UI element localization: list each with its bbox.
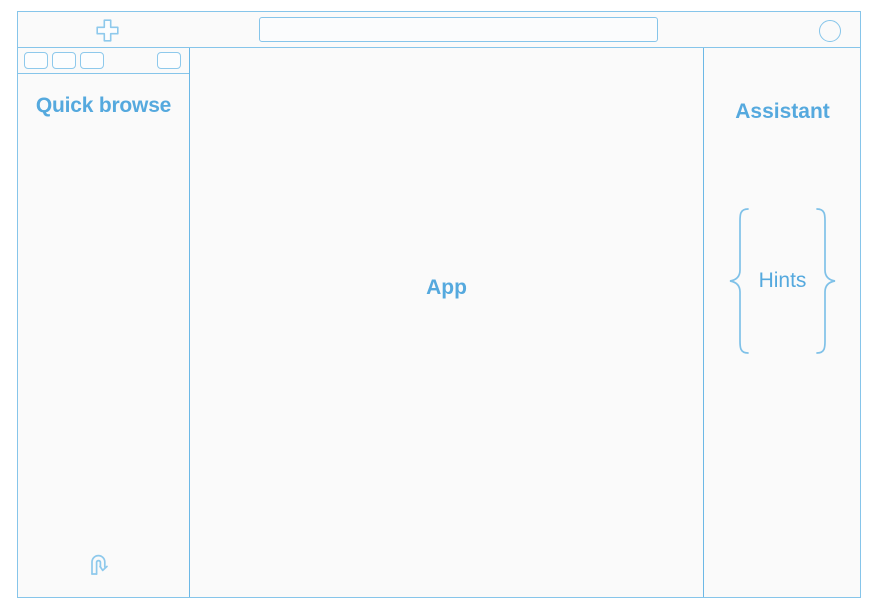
app-content-panel: App	[190, 48, 704, 597]
right-curly-brace-icon	[812, 206, 838, 356]
sidebar-tab-bar	[18, 48, 189, 74]
quick-browse-sidebar: Quick browse	[18, 48, 190, 597]
sidebar-item-tab-1[interactable]	[24, 52, 48, 69]
app-window-frame: Quick browse App Assistant Hints	[17, 11, 861, 598]
u-turn-arrow-icon[interactable]	[86, 549, 116, 579]
hints-label: Hints	[753, 269, 813, 293]
quick-browse-title: Quick browse	[18, 93, 189, 119]
sidebar-item-tab-4[interactable]	[157, 52, 181, 69]
search-input[interactable]	[259, 17, 658, 42]
plus-icon[interactable]	[96, 19, 119, 42]
assistant-panel: Assistant Hints	[705, 48, 860, 597]
top-bar	[18, 12, 860, 48]
sidebar-item-tab-3[interactable]	[80, 52, 104, 69]
account-circle-icon[interactable]	[819, 20, 841, 42]
hints-group: Hints	[709, 203, 856, 358]
left-curly-brace-icon	[727, 206, 753, 356]
sidebar-item-tab-2[interactable]	[52, 52, 76, 69]
app-panel-label: App	[190, 276, 703, 300]
assistant-title: Assistant	[705, 100, 860, 124]
